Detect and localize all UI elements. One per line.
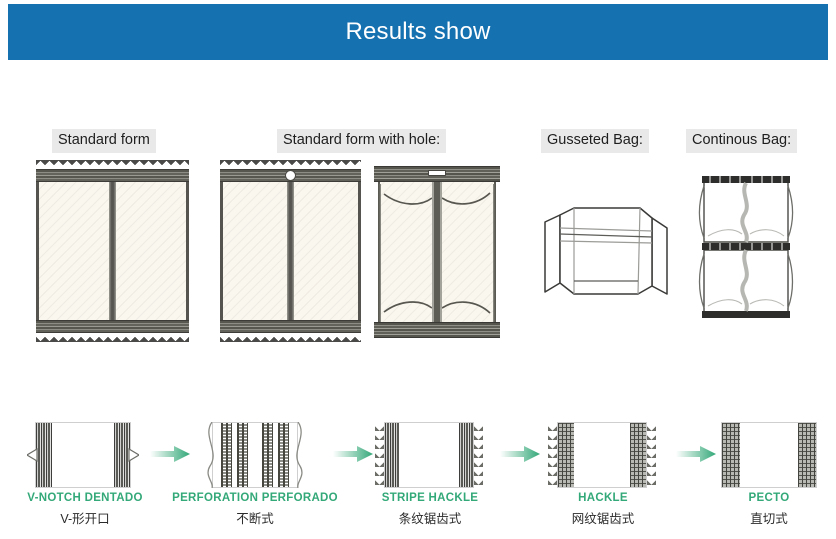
pillow-bottom-seal	[374, 322, 500, 338]
label-standard-form: Standard form	[52, 129, 156, 153]
right-zigzag-edge	[646, 422, 656, 488]
gusseted-bag-drawing	[538, 198, 674, 306]
cut-card	[384, 422, 474, 488]
right-arrow-icon-2	[333, 446, 373, 462]
cut-band-right	[459, 423, 473, 487]
bag-face	[220, 169, 361, 333]
figure-stripe-hackle-cut	[375, 422, 483, 488]
cut-name-en-pecto: PECTO	[690, 492, 836, 504]
cut-name-cn-hackle: 网纹锯齿式	[518, 508, 688, 527]
bag-face	[36, 169, 189, 333]
bag-bottom-zigzag-edge	[220, 331, 361, 342]
left-zigzag-edge	[375, 422, 385, 488]
right-arrow-icon-3	[500, 446, 540, 462]
figure-v-notch-cut	[27, 422, 139, 488]
cut-name-cn-v-notch: V-形开口	[0, 508, 170, 527]
figure-pecto-cut	[721, 422, 817, 488]
bag-bottom-zigzag-edge	[36, 331, 189, 342]
cut-name-en-v-notch: V-NOTCH DENTADO	[0, 492, 170, 504]
hang-hole-icon	[285, 170, 296, 181]
cut-card	[721, 422, 817, 488]
cut-name-cn-stripe-hackle: 条纹锯齿式	[345, 508, 515, 527]
label-gusseted-bag: Gusseted Bag:	[541, 129, 649, 153]
figure-standard-form	[36, 160, 189, 342]
pillow-bag-contours	[376, 166, 498, 338]
cut-band-left	[385, 423, 399, 487]
right-arrow-icon-4	[676, 446, 716, 462]
cut-name-cn-pecto: 直切式	[690, 508, 836, 527]
figure-pillow-bag	[376, 166, 498, 338]
figure-standard-form-with-hole	[220, 160, 361, 342]
cut-card	[557, 422, 647, 488]
hang-slot-icon	[428, 170, 446, 176]
cut-band-right	[630, 423, 646, 487]
left-zigzag-edge	[548, 422, 558, 488]
cut-name-en-hackle: HACKLE	[518, 492, 688, 504]
v-notch-marks	[27, 422, 139, 488]
label-continous-bag: Continous Bag:	[686, 129, 797, 153]
bag-top-zigzag-edge	[36, 160, 189, 171]
label-standard-form-with-hole: Standard form with hole:	[277, 129, 446, 153]
right-zigzag-edge	[473, 422, 483, 488]
perforation-wavy-edges	[196, 422, 314, 488]
cut-name-en-perforation: PERFORATION PERFORADO	[160, 492, 350, 504]
continuous-bag-drawing	[690, 170, 802, 320]
cut-band-left	[558, 423, 574, 487]
page-title: Results show	[345, 18, 490, 46]
cut-name-cn-perforation: 不断式	[160, 508, 350, 527]
bag-center-seam	[287, 169, 294, 333]
figure-hackle-cut	[548, 422, 656, 488]
results-show-page: Results show Standard form Standard form…	[0, 0, 836, 539]
bag-center-seam	[109, 169, 116, 333]
page-header-banner: Results show	[8, 4, 828, 60]
figure-gusseted-bag	[538, 198, 674, 306]
figure-continous-bag	[690, 170, 802, 320]
cut-name-en-stripe-hackle: STRIPE HACKLE	[345, 492, 515, 504]
figure-perforation-cut	[196, 422, 314, 488]
cut-band-left	[722, 423, 740, 487]
cut-band-right	[798, 423, 816, 487]
right-arrow-icon-1	[150, 446, 190, 462]
